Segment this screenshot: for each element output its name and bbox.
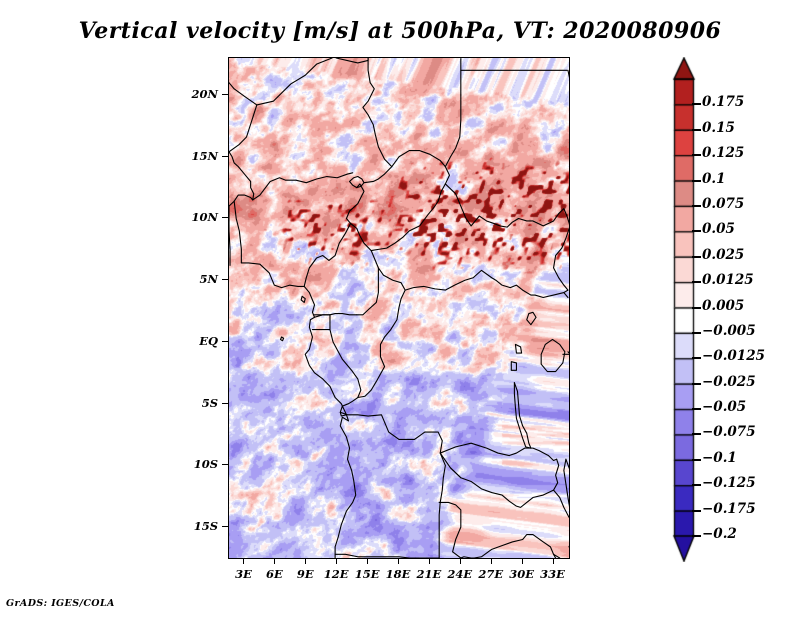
colorbar-tick-label-0.175: 0.175 [702, 94, 744, 110]
colorbar-tick-label--0.005: −0.005 [702, 323, 756, 339]
border-line [229, 195, 253, 206]
lat-tick-label-10N: 10N [166, 210, 218, 224]
colorbar-tick-mark [692, 180, 701, 182]
lat-tick-label-5N: 5N [166, 272, 218, 286]
lat-tick-mark [222, 156, 228, 157]
border-line [514, 383, 530, 448]
colorbar-tick-mark [692, 256, 701, 258]
colorbar-tick-mark [692, 129, 701, 131]
lat-tick-mark [222, 526, 228, 527]
lat-tick-label-15N: 15N [166, 149, 218, 163]
lat-tick-mark [222, 403, 228, 404]
border-line [527, 312, 536, 324]
border-line [515, 344, 521, 353]
colorbar-tick-mark [692, 510, 701, 512]
colorbar[interactable]: 0.1750.150.1250.10.0750.050.0250.01250.0… [668, 57, 800, 562]
border-line [304, 184, 364, 286]
border-line [241, 263, 355, 558]
border-line [371, 251, 535, 295]
border-line [541, 339, 565, 371]
border-line [330, 314, 361, 398]
border-line [440, 453, 558, 507]
border-line [351, 151, 450, 251]
colorbar-gradient [668, 57, 702, 562]
border-line [350, 177, 364, 188]
lat-tick-label-20N: 20N [166, 87, 218, 101]
lon-tick-mark [274, 558, 275, 564]
colorbar-tick-mark [692, 408, 701, 410]
border-line [357, 268, 379, 315]
border-line [554, 490, 569, 520]
border-line [336, 58, 368, 63]
colorbar-tick-label--0.175: −0.175 [702, 501, 756, 517]
colorbar-tick-label--0.025: −0.025 [702, 374, 756, 390]
border-line [229, 152, 254, 200]
colorbar-tick-label-0.1: 0.1 [702, 171, 726, 187]
colorbar-tick-mark [692, 154, 701, 156]
colorbar-tick-label-0.075: 0.075 [702, 196, 744, 212]
colorbar-tick-label-0.05: 0.05 [702, 221, 735, 237]
lat-tick-label-EQ: EQ [166, 334, 218, 348]
colorbar-tick-mark [692, 281, 701, 283]
border-line [440, 443, 509, 455]
page-title: Vertical velocity [m/s] at 500hPa, VT: 2… [0, 18, 800, 44]
lat-tick-mark [222, 341, 228, 342]
border-line [461, 535, 556, 558]
colorbar-tick-label--0.0125: −0.0125 [702, 348, 765, 364]
border-line [509, 448, 556, 460]
lat-tick-mark [222, 94, 228, 95]
border-line [234, 201, 241, 263]
border-line [301, 296, 305, 302]
lat-tick-label-10S: 10S [166, 457, 218, 471]
lon-tick-mark [553, 558, 554, 564]
colorbar-tick-label--0.075: −0.075 [702, 424, 756, 440]
border-line [451, 468, 461, 478]
lat-tick-label-15S: 15S [166, 519, 218, 533]
colorbar-tick-label-0.15: 0.15 [702, 120, 735, 136]
map-plot-area[interactable] [228, 57, 570, 559]
border-line [511, 362, 516, 371]
border-line [568, 70, 569, 187]
grads-credit: GrADS: IGES/COLA [6, 598, 115, 609]
border-line [253, 173, 353, 200]
border-line [564, 293, 568, 298]
colorbar-tick-mark [692, 230, 701, 232]
border-line [554, 226, 569, 290]
border-line [340, 412, 445, 558]
colorbar-tick-mark [692, 383, 701, 385]
border-line [229, 206, 230, 265]
border-line [445, 95, 460, 167]
lon-tick-mark [522, 558, 523, 564]
lat-tick-mark [222, 464, 228, 465]
border-line [340, 290, 405, 416]
colorbar-tick-label--0.125: −0.125 [702, 475, 756, 491]
lat-tick-label-5S: 5S [166, 396, 218, 410]
lon-tick-mark [398, 558, 399, 564]
colorbar-tick-mark [692, 103, 701, 105]
border-line [229, 105, 257, 152]
colorbar-tick-label-0.125: 0.125 [702, 145, 744, 161]
colorbar-tick-mark [692, 433, 701, 435]
border-line [445, 184, 569, 227]
colorbar-tick-mark [692, 535, 701, 537]
border-line [363, 58, 392, 167]
colorbar-tick-mark [692, 459, 701, 461]
colorbar-tick-label-0.005: 0.005 [702, 298, 744, 314]
country-borders-overlay [229, 58, 569, 558]
lon-tick-label-33E: 33E [528, 567, 578, 581]
lon-tick-mark [243, 558, 244, 564]
lon-tick-mark [460, 558, 461, 564]
colorbar-tick-mark [692, 205, 701, 207]
colorbar-tick-label-0.0125: 0.0125 [702, 272, 754, 288]
colorbar-tick-mark [692, 484, 701, 486]
colorbar-tick-mark [692, 357, 701, 359]
lon-tick-mark [367, 558, 368, 564]
lat-tick-mark [222, 217, 228, 218]
border-line [335, 554, 439, 558]
lon-tick-mark [491, 558, 492, 564]
colorbar-tick-label--0.1: −0.1 [702, 450, 737, 466]
border-line [564, 459, 569, 519]
lon-tick-mark [429, 558, 430, 564]
border-line [281, 337, 284, 341]
colorbar-tick-mark [692, 307, 701, 309]
border-line [229, 58, 332, 105]
lon-tick-mark [305, 558, 306, 564]
colorbar-tick-label--0.2: −0.2 [702, 526, 737, 542]
lat-tick-mark [222, 279, 228, 280]
colorbar-tick-mark [692, 332, 701, 334]
colorbar-tick-label-0.025: 0.025 [702, 247, 744, 263]
border-line [535, 290, 568, 297]
lon-tick-mark [336, 558, 337, 564]
border-line [439, 502, 461, 558]
colorbar-tick-label--0.05: −0.05 [702, 399, 746, 415]
